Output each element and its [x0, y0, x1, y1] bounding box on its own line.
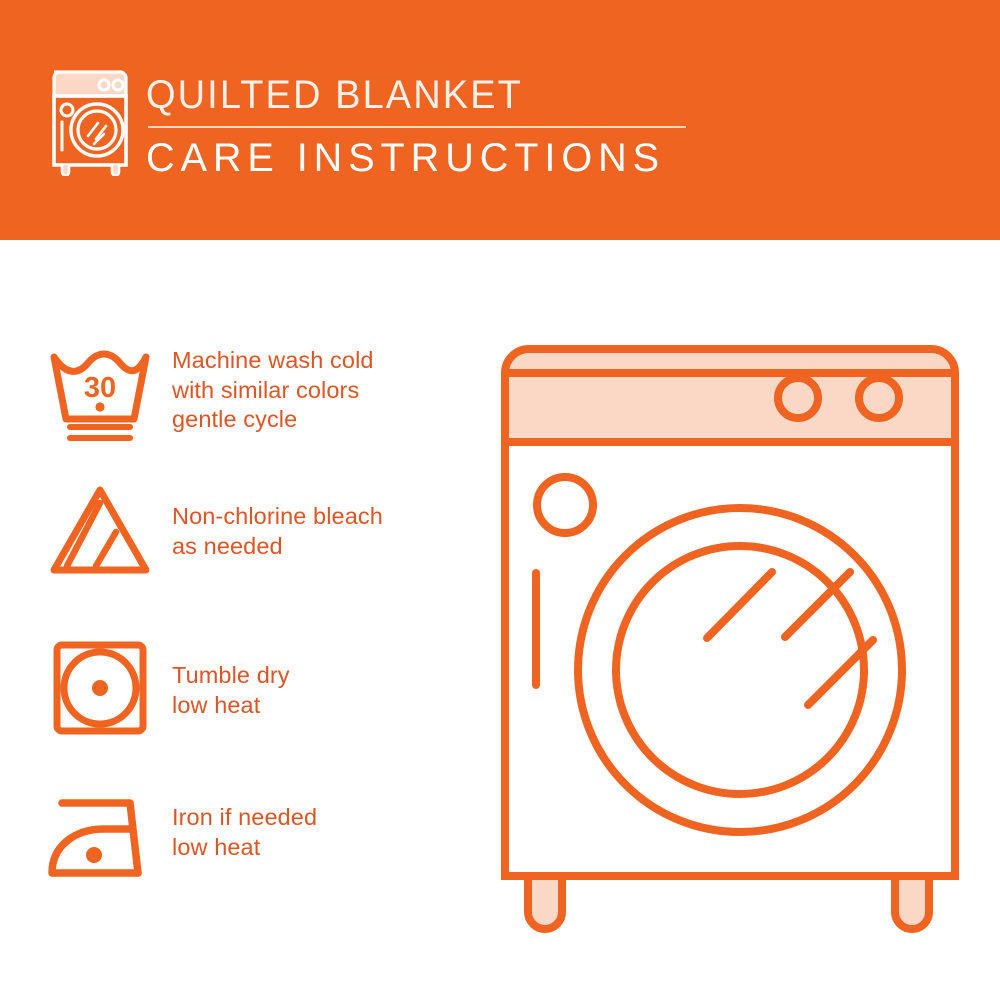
- front-load-washing-machine-illustration: [480, 325, 980, 955]
- care-item-label: Iron if needed low heat: [172, 785, 317, 862]
- door-inner-ring: [616, 546, 864, 794]
- door-shine-lines: [707, 572, 873, 705]
- care-item-machine-wash: 30 Machine wash cold with similar colors…: [46, 345, 476, 445]
- page-title: QUILTED BLANKET: [146, 72, 716, 118]
- care-instructions-infographic: QUILTED BLANKET CARE INSTRUCTIONS 30: [0, 0, 1000, 1000]
- care-instruction-list: 30 Machine wash cold with similar colors…: [0, 240, 480, 1000]
- leg-right: [895, 876, 929, 929]
- leg-left: [528, 876, 562, 929]
- wash-tub-30-gentle-icon: 30: [46, 345, 172, 445]
- wash-temperature-label: 30: [84, 372, 116, 404]
- care-item-iron: Iron if needed low heat: [46, 785, 476, 885]
- header-washing-machine-icon: [44, 66, 148, 176]
- iron-low-heat-icon: [46, 785, 172, 885]
- header-banner: QUILTED BLANKET CARE INSTRUCTIONS: [0, 0, 1000, 240]
- non-chlorine-bleach-triangle-icon: [46, 480, 172, 580]
- care-item-tumble-dry: Tumble dry low heat: [46, 638, 476, 738]
- care-item-label: Non-chlorine bleach as needed: [172, 480, 383, 561]
- page-subtitle: CARE INSTRUCTIONS: [146, 134, 740, 182]
- care-item-label: Machine wash cold with similar colors ge…: [172, 345, 374, 435]
- control-panel: [505, 349, 955, 442]
- care-item-bleach: Non-chlorine bleach as needed: [46, 480, 476, 580]
- header-title-group: QUILTED BLANKET CARE INSTRUCTIONS: [146, 72, 746, 182]
- detergent-indicator: [537, 477, 593, 533]
- title-divider: [148, 126, 686, 128]
- door-outer-ring: [578, 508, 902, 832]
- tumble-dry-low-heat-icon: [46, 638, 172, 738]
- care-item-label: Tumble dry low heat: [172, 638, 290, 720]
